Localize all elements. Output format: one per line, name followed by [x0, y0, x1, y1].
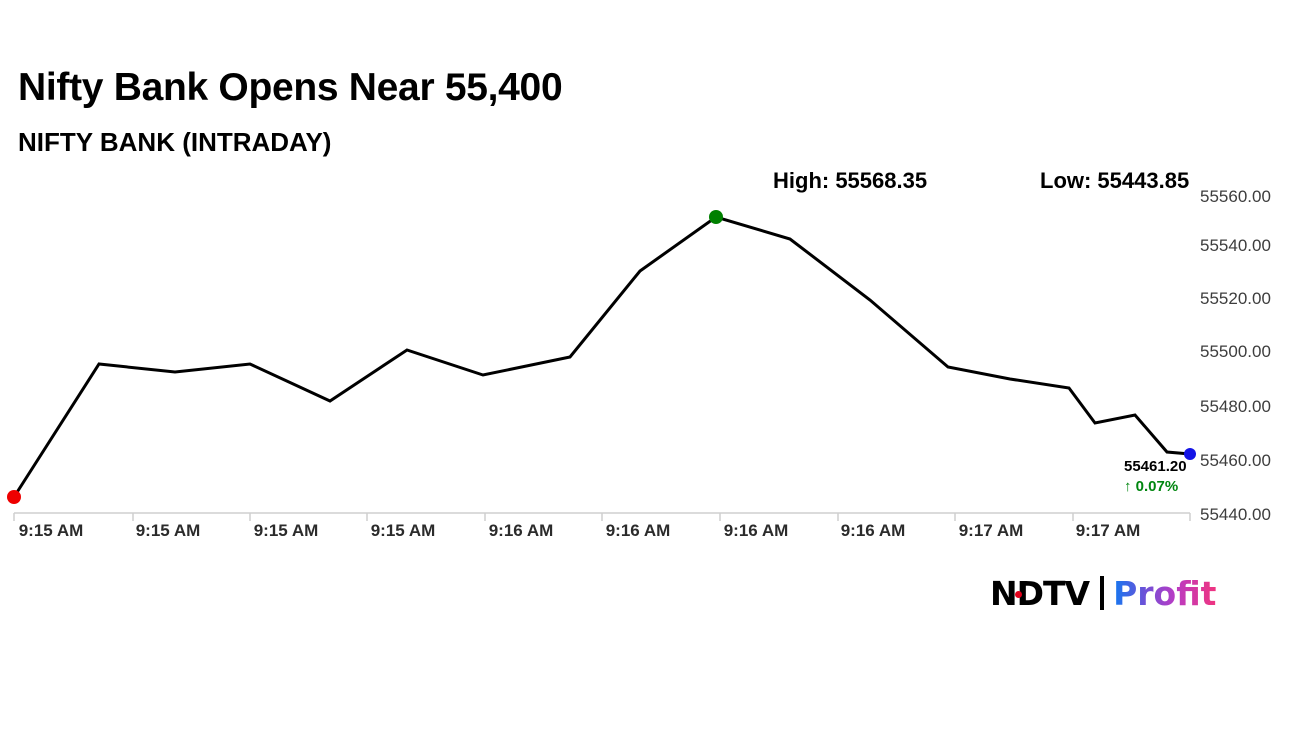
- chart-subtitle: NIFTY BANK (INTRADAY): [18, 129, 331, 155]
- last-change-label: ↑ 0.07%: [1124, 479, 1178, 494]
- high-marker-dot: [709, 210, 723, 224]
- ndtv-wordmark: NDTV: [990, 577, 1089, 610]
- y-axis-tick-label: 55480.00: [1200, 398, 1271, 415]
- y-axis-tick-label: 55540.00: [1200, 237, 1271, 254]
- y-axis-tick-label: 55460.00: [1200, 452, 1271, 469]
- chart-plot-area: [0, 180, 1296, 525]
- x-axis-ticks: [14, 513, 1190, 521]
- y-axis-tick-label: 55520.00: [1200, 290, 1271, 307]
- profit-wordmark: Profit: [1113, 577, 1216, 610]
- x-axis-tick-label: 9:15 AM: [19, 522, 84, 539]
- ndtv-red-dot-icon: [1015, 591, 1022, 598]
- page-title: Nifty Bank Opens Near 55,400: [18, 68, 562, 107]
- y-axis-tick-label: 55560.00: [1200, 188, 1271, 205]
- ndtv-text: NDTV: [990, 574, 1089, 613]
- x-axis-tick-label: 9:17 AM: [959, 522, 1024, 539]
- x-axis-tick-label: 9:16 AM: [724, 522, 789, 539]
- x-axis-tick-label: 9:17 AM: [1076, 522, 1141, 539]
- logo-divider: [1100, 576, 1104, 610]
- x-axis-tick-label: 9:15 AM: [136, 522, 201, 539]
- x-axis-tick-label: 9:16 AM: [489, 522, 554, 539]
- y-axis-tick-label: 55500.00: [1200, 343, 1271, 360]
- ndtv-profit-logo: NDTV Profit: [990, 573, 1216, 613]
- price-line: [14, 217, 1190, 497]
- open-marker-dot: [7, 490, 21, 504]
- x-axis-tick-label: 9:16 AM: [606, 522, 671, 539]
- x-axis-tick-label: 9:15 AM: [371, 522, 436, 539]
- x-axis-tick-label: 9:15 AM: [254, 522, 319, 539]
- y-axis-tick-label: 55440.00: [1200, 506, 1271, 523]
- last-value-label: 55461.20: [1124, 459, 1187, 474]
- chart-page: Nifty Bank Opens Near 55,400 NIFTY BANK …: [0, 0, 1296, 729]
- x-axis-tick-label: 9:16 AM: [841, 522, 906, 539]
